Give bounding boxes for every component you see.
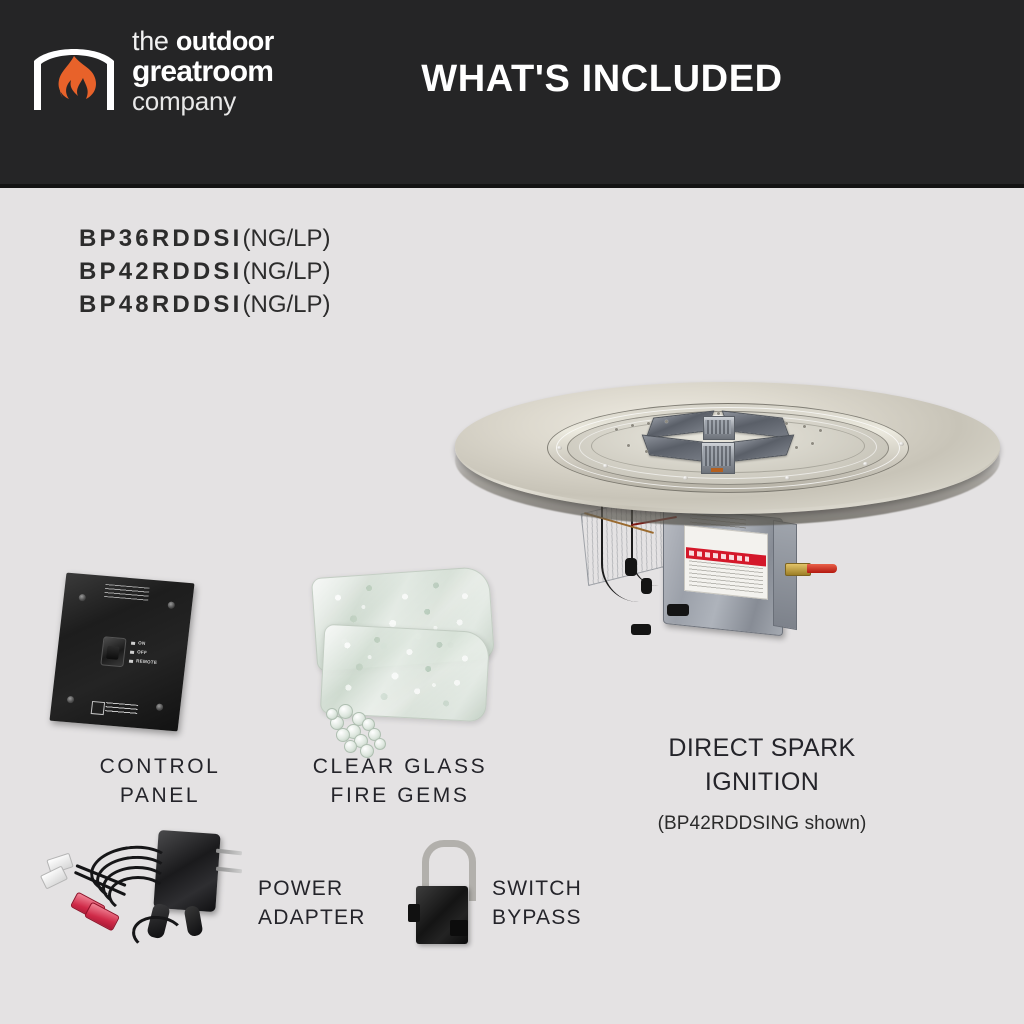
model-number-list: BP36RDDSI(NG/LP) BP42RDDSI(NG/LP) BP48RD… xyxy=(79,222,331,321)
caption-line: CLEAR GLASS xyxy=(280,753,520,782)
mounting-hole xyxy=(156,703,164,711)
caption-line: BYPASS xyxy=(492,904,682,933)
plug-prong xyxy=(216,849,242,856)
caption-line: IGNITION xyxy=(588,765,936,799)
control-panel-image: ON OFF REMOTE xyxy=(52,578,222,728)
wire-connector xyxy=(625,558,637,576)
rocker-switch[interactable] xyxy=(100,636,126,667)
caption-clear-glass-fire-gems: CLEAR GLASS FIRE GEMS xyxy=(280,753,520,810)
caption-line: SWITCH xyxy=(492,875,682,904)
mounting-hole xyxy=(67,696,75,704)
power-cord xyxy=(130,913,185,954)
model-row: BP48RDDSI(NG/LP) xyxy=(79,288,331,321)
page-header: the outdoor greatroom company WHAT'S INC… xyxy=(0,0,1024,184)
red-fitting-cap xyxy=(807,564,837,573)
panel-brand-logo xyxy=(91,700,139,718)
logo-line-the: the xyxy=(132,26,169,56)
igniter-spark-tip xyxy=(711,468,723,472)
caption-line: CONTROL xyxy=(60,753,260,782)
caption-control-panel: CONTROL PANEL xyxy=(60,753,260,810)
model-code: BP48RDDSI xyxy=(79,291,243,318)
caption-line: ADAPTER xyxy=(258,904,448,933)
caption-line: DIRECT SPARK xyxy=(588,731,936,765)
mounting-hole xyxy=(167,601,175,609)
direct-spark-ignition-image xyxy=(455,372,1000,692)
igniter-grid xyxy=(703,446,731,466)
model-row: BP42RDDSI(NG/LP) xyxy=(79,255,331,288)
caption-line: FIRE GEMS xyxy=(280,782,520,811)
model-suffix: (NG/LP) xyxy=(243,258,331,285)
model-code: BP36RDDSI xyxy=(79,225,243,252)
plug-prong xyxy=(216,867,242,874)
panel-logo-mark xyxy=(91,701,105,715)
caption-line: PANEL xyxy=(60,782,260,811)
caption-line: POWER xyxy=(258,875,448,904)
wire-connector xyxy=(631,624,651,635)
panel-logo-text xyxy=(105,702,138,716)
page-title: WHAT'S INCLUDED xyxy=(0,58,1024,101)
panel-instruction-text xyxy=(104,584,149,601)
logo-line-outdoor: outdoor xyxy=(176,26,274,56)
gas-inlet-fitting xyxy=(785,562,837,575)
model-suffix: (NG/LP) xyxy=(243,291,331,318)
header-divider xyxy=(0,184,1024,188)
mounting-hole xyxy=(78,594,86,602)
wire-connector xyxy=(667,604,689,616)
caption-direct-spark-ignition: DIRECT SPARK IGNITION (BP42RDDSING shown… xyxy=(588,731,936,837)
switch-label-remote: REMOTE xyxy=(136,658,158,665)
model-suffix: (NG/LP) xyxy=(243,225,331,252)
caption-switch-bypass: SWITCH BYPASS xyxy=(492,875,682,932)
switch-label-on: ON xyxy=(138,640,146,646)
power-adapter-image xyxy=(38,828,273,958)
caption-power-adapter: POWER ADAPTER xyxy=(258,875,448,932)
igniter-grid xyxy=(705,420,731,434)
switch-label-off: OFF xyxy=(137,649,147,655)
whats-included-page: the outdoor greatroom company WHAT'S INC… xyxy=(0,0,1024,1024)
clear-glass-fire-gems-image xyxy=(296,568,511,753)
model-row: BP36RDDSI(NG/LP) xyxy=(79,222,331,255)
caption-subtext: (BP42RDDSING shown) xyxy=(588,811,936,837)
wire-connector xyxy=(641,578,652,594)
control-panel-plate: ON OFF REMOTE xyxy=(49,573,194,732)
bypass-connector-notch xyxy=(450,920,468,936)
model-code: BP42RDDSI xyxy=(79,258,243,285)
